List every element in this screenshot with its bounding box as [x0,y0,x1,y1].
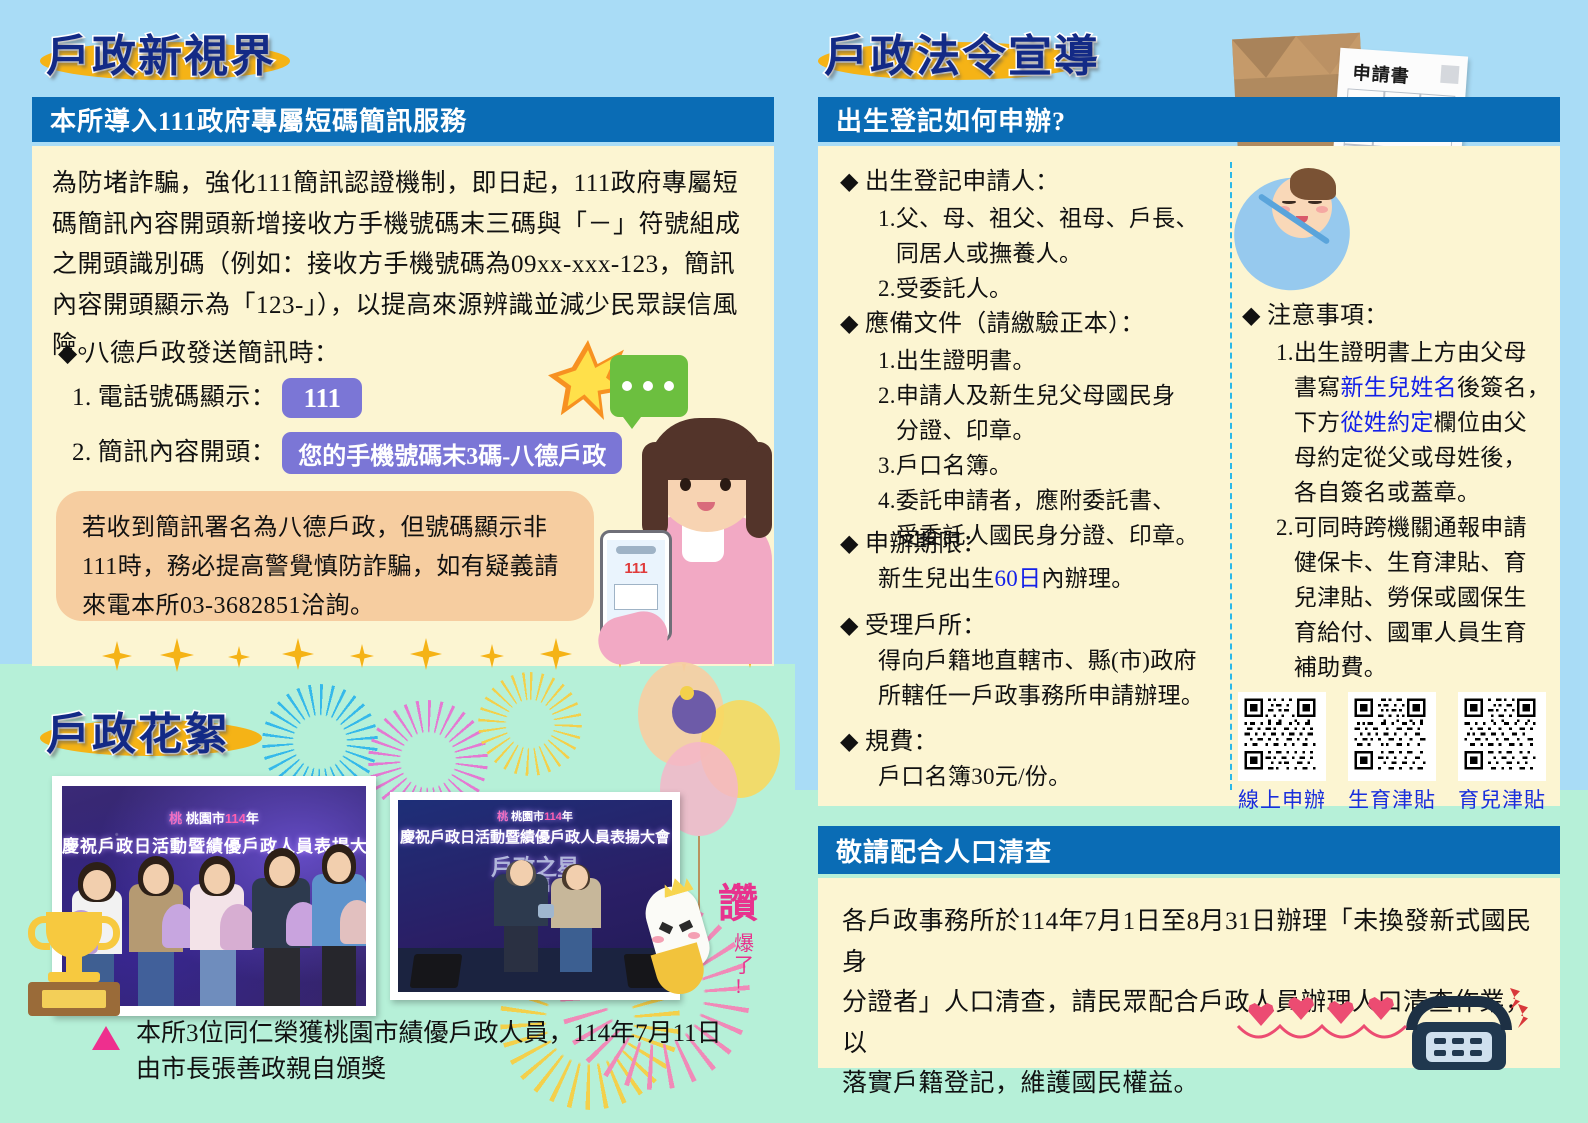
panel-birth: ◆ 出生登記申請人： 1. 父、母、祖父、祖母、戶長、 同居人或撫養人。 2. … [818,146,1560,806]
census-line-1: 各戶政事務所於114年7月1日至8月31日辦理「未換發新式國民身 [842,902,1542,983]
birth-notes-item-1: 1. 出生證明書上方由父母 書寫新生兒姓名後簽名， 下方從姓約定欄位由父 母約定… [1276,336,1552,511]
photo-2-year-suffix: 年 [562,811,573,823]
application-form-title: 申請書 [1352,59,1411,89]
qr-label-birth-subsidy: 生育津貼 [1348,784,1436,814]
like-sticker-main: 讚 [718,884,758,924]
birth-block-applicants: ◆ 出生登記申請人： 1. 父、母、祖父、祖母、戶長、 同居人或撫養人。 2. … [840,164,1220,307]
birth-block-offices: ◆ 受理戶所： 得向戶籍地直轄市、縣(市)政府 所轄任一戶政事務所申請辦理。 [840,608,1240,714]
birth-notes-item-2-num: 2. [1276,511,1294,686]
qr-label-childcare-subsidy: 育兒津貼 [1458,784,1546,814]
section-header-census: 敬請配合人口清查 [818,826,1560,874]
sms-item-2-badge: 您的手機號碼末3碼-八德戶政 [282,432,622,474]
banner-title-right: 戶政法令宣導 [824,20,1164,84]
birth-notes-item-1-line-1: 出生證明書上方由父母 [1294,336,1550,371]
birth-deadline-body: 新生兒出生60日內辦理。 [878,562,1225,597]
section-header-sms: 本所導入111政府專屬短碼簡訊服務 [32,97,774,142]
birth-deadline-pre: 新生兒出生 [878,566,995,591]
sms-item-1-badge: 111 [282,378,362,418]
birth-deadline-heading: ◆ 申辦期限： [840,526,1225,562]
birth-notes-item-2-line-5: 補助費。 [1294,651,1527,686]
sms-item-1-num: 1. [72,378,92,419]
birth-block-0-item-2-num: 2. [878,272,896,307]
birth-block-1-item-3-line-1: 戶口名簿。 [896,449,1013,484]
birth-notes-item-2: 2. 可同時跨機關通報申請 健保卡、生育津貼、育 兒津貼、勞保或國保生 育給付、… [1276,511,1552,686]
birth-block-1-item-1: 1. 出生證明書。 [878,344,1225,379]
photo-1-year-suffix: 年 [246,811,259,826]
qr-item-childcare-subsidy[interactable]: 育兒津貼 [1458,692,1546,814]
birth-block-0-item-1-num: 1. [878,202,896,272]
photo-2-headline-line2: 慶祝戶政日活動暨績優戶政人員表揚大會 [398,826,672,847]
birth-block-1-item-3-num: 3. [878,449,896,484]
photo-1-logo: 桃 [169,811,182,826]
birth-block-1-item-1-line-1: 出生證明書。 [896,344,1036,379]
birth-block-0-item-1-line-1: 父、母、祖父、祖母、戶長、 [896,202,1199,237]
qr-code-birth-subsidy-icon[interactable] [1348,692,1436,781]
birth-deadline-post: 內辦理。 [1041,566,1134,591]
qr-code-childcare-subsidy-icon[interactable] [1458,692,1546,781]
photo-2-logo: 桃 [497,811,508,823]
qr-code-row: 線上申辦 [1238,692,1546,814]
birth-deadline-highlight: 60日 [995,566,1042,591]
gallery-caption-line-1: 本所3位同仁榮獲桃園市績優戶政人員，114年7月11日 [136,1016,722,1052]
birth-fee-heading: ◆ 規費： [840,724,1225,760]
birth-notes-item-1-line-5: 各自簽名或蓋章。 [1294,476,1550,511]
sms-warning-text: 若收到簡訊署名為八德戶政，但號碼顯示非111時，務必提高警覺慎防詐騙，如有疑義請… [82,509,568,626]
birth-offices-line-2: 所轄任一戶政事務所申請辦理。 [878,679,1240,714]
girl-with-phone-illustration: 111 [596,418,786,668]
sms-list-heading: ◆ 八德戶政發送簡訊時： [58,334,339,375]
birth-block-1-heading: ◆ 應備文件（請繳驗正本）： [840,306,1225,342]
birth-block-1-item-2-line-1: 申請人及新生兒父母國民身 [896,379,1176,414]
gallery-caption-line-2: 由市長張善政親自頒獎 [136,1052,722,1088]
banner-left: 戶政新視界 [40,8,370,88]
birth-notes-item-1-line-2: 書寫新生兒姓名後簽名， [1294,371,1550,406]
birth-notes-item-1-num: 1. [1276,336,1294,511]
birth-block-0-item-1-line-2: 同居人或撫養人。 [896,237,1199,272]
birth-notes-item-1-line-4: 母約定從父或母姓後， [1294,441,1550,476]
gallery-caption: 本所3位同仁榮獲桃園市績優戶政人員，114年7月11日 由市長張善政親自頒獎 [92,1016,722,1089]
birth-fee-line-1: 戶口名簿30元/份。 [878,760,1225,795]
photo-2-year-num: 114 [544,811,562,823]
birth-notes-heading: ◆ 注意事項： [1242,298,1552,334]
birth-notes-item-2-line-4: 育給付、國軍人員生育 [1294,616,1527,651]
sms-item-2-num: 2. [72,433,92,474]
birth-block-deadline: ◆ 申辦期限： 新生兒出生60日內辦理。 [840,526,1225,597]
birth-block-fee: ◆ 規費： 戶口名簿30元/份。 [840,724,1225,795]
photo-1-year-num: 114 [225,811,246,826]
birth-block-1-item-2: 2. 申請人及新生兒父母國民身 分證、印章。 [878,379,1225,449]
photo-frame-2: 桃 桃園市114年 慶祝戶政日活動暨績優戶政人員表揚大會 戶政之星 幸福 [390,792,680,1000]
banner-right: 戶政法令宣導 [818,8,1158,88]
birth-notes-item-2-line-1: 可同時跨機關通報申請 [1294,511,1527,546]
birth-block-0-item-2: 2. 受委託人。 [878,272,1220,307]
birth-block-0-heading: ◆ 出生登記申請人： [840,164,1220,200]
photo-2-city: 桃園市 [511,811,544,823]
triangle-bullet-icon [92,1026,120,1050]
like-sticker-sub1: 爆 [734,934,754,955]
birth-block-1-item-3: 3. 戶口名簿。 [878,449,1225,484]
trophy-icon [22,908,130,1020]
photo-1-city: 桃園市 [186,811,225,826]
birth-block-1-item-2-line-2: 分證、印章。 [896,414,1176,449]
poster-page: 戶政新視界 本所導入111政府專屬短碼簡訊服務 為防堵詐騙，強化111簡訊認證機… [0,0,1588,1123]
birth-block-0-item-2-line-1: 受委託人。 [896,272,1013,307]
chat-bubble-icon [610,355,688,417]
birth-notes-item-2-line-3: 兒津貼、勞保或國保生 [1294,581,1527,616]
qr-item-online[interactable]: 線上申辦 [1238,692,1326,814]
birth-block-documents: ◆ 應備文件（請繳驗正本）： 1. 出生證明書。 2. 申請人及新生兒父母國民身… [840,306,1225,554]
qr-label-online: 線上申辦 [1238,784,1326,814]
banner-title-left: 戶政新視界 [46,20,376,84]
telephone-icon [1398,980,1528,1090]
birth-notes-item-1-line-3: 下方從姓約定欄位由父 [1294,406,1550,441]
birth-block-1-item-2-num: 2. [878,379,896,449]
birth-offices-heading: ◆ 受理戶所： [840,608,1240,644]
sms-list-item-1: 1. 電話號碼顯示： 111 [72,378,362,419]
sms-list-item-2: 2. 簡訊內容開頭： 您的手機號碼末3碼-八德戶政 [72,432,622,474]
birth-offices-line-1: 得向戶籍地直轄市、縣(市)政府 [878,644,1240,679]
qr-code-online-icon[interactable] [1238,692,1326,781]
photo-2: 桃 桃園市114年 慶祝戶政日活動暨績優戶政人員表揚大會 戶政之星 幸福 [398,800,672,992]
birth-block-0-item-1: 1. 父、母、祖父、祖母、戶長、 同居人或撫養人。 [878,202,1220,272]
like-sticker-sub3: ！ [734,978,752,996]
qr-item-birth-subsidy[interactable]: 生育津貼 [1348,692,1436,814]
section-header-birth: 出生登記如何申辦? [818,97,1560,142]
birth-block-1-item-4-line-1: 委託申請者，應附委託書、 [896,484,1199,519]
sms-warning-box: 若收到簡訊署名為八德戶政，但號碼顯示非111時，務必提高警覺慎防詐騙，如有疑義請… [56,491,594,621]
birth-notes-block: ◆ 注意事項： 1. 出生證明書上方由父母 書寫新生兒姓名後簽名， 下方從姓約定… [1242,298,1552,686]
sms-item-1-label: 電話號碼顯示： [98,378,277,419]
sms-item-2-label: 簡訊內容開頭： [98,433,277,474]
birth-notes-item-2-line-2: 健保卡、生育津貼、育 [1294,546,1527,581]
sleeping-baby-icon [1234,158,1374,294]
photo-2-headline-line1: 桃 桃園市114年 [398,808,672,824]
like-sticker-sub2: 了 [734,956,754,977]
like-sticker: 讚 爆 了 ！ [648,878,758,1016]
photo-1-headline-line1: 桃 桃園市114年 [62,808,366,827]
birth-block-1-item-1-num: 1. [878,344,896,379]
